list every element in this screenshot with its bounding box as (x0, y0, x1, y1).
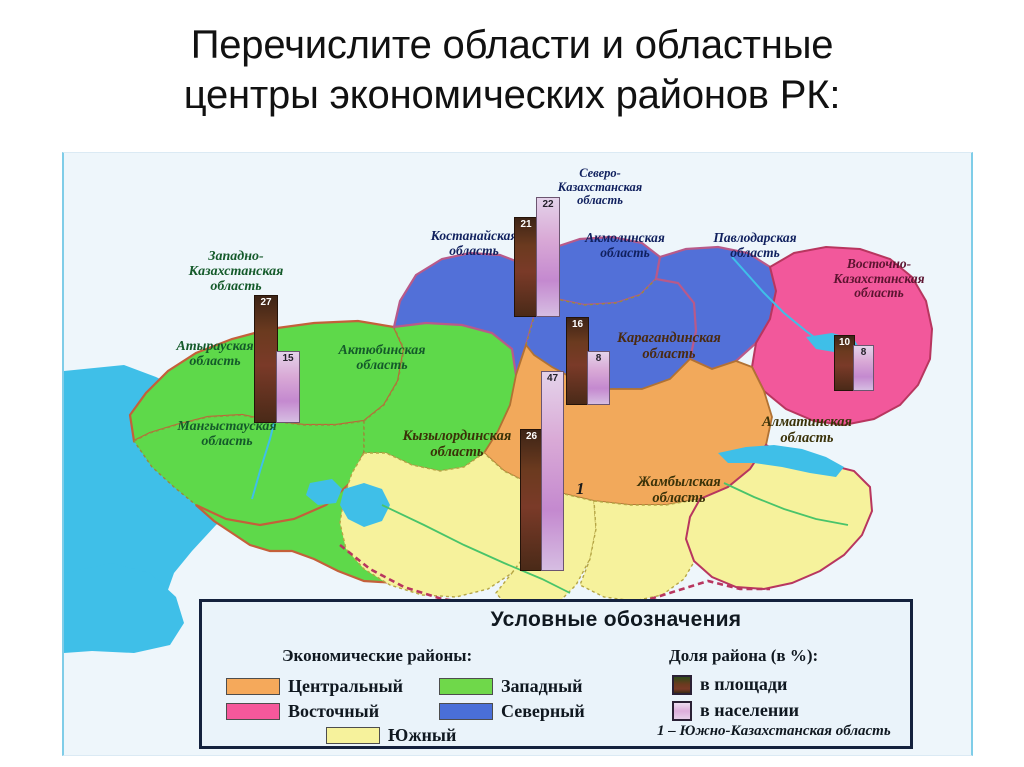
page-title-line-1: Перечислите области и областные (0, 20, 1024, 70)
legend-subtitle-share: Доля района (в %): (669, 646, 818, 666)
bar-pair-yuzhny: 26 47 (520, 371, 564, 571)
bar-population-value-vostochny: 8 (854, 347, 873, 358)
swatch-zapadny (439, 678, 493, 695)
legend-label-yuzhny: Южный (388, 725, 456, 746)
map-marker-1: 1 (576, 479, 585, 499)
legend-label-share-area: в площади (700, 674, 787, 695)
bar-population-vostochny: 8 (853, 345, 874, 391)
bar-population-value-severny: 22 (537, 199, 559, 210)
bar-area-severny: 21 (514, 217, 538, 317)
bar-population-value-yuzhny: 47 (542, 373, 563, 384)
bar-population-zapadny: 15 (276, 351, 300, 423)
swatch-yuzhny (326, 727, 380, 744)
bar-area-value-zapadny: 27 (255, 297, 277, 308)
bar-area-value-vostochny: 10 (835, 337, 854, 348)
swatch-vostochny (226, 703, 280, 720)
legend-label-vostochny: Восточный (288, 701, 379, 722)
swatch-centralny (226, 678, 280, 695)
map-container: особенности хозяйства региона требует из… (62, 152, 973, 756)
bar-population-value-zapadny: 15 (277, 353, 299, 364)
bar-area-yuzhny: 26 (520, 429, 543, 571)
bar-population-severny: 22 (536, 197, 560, 317)
bar-population-value-centralny: 8 (588, 353, 609, 364)
bar-population-yuzhny: 47 (541, 371, 564, 571)
map-legend: Условные обозначения Экономические район… (199, 599, 913, 749)
legend-item-yuzhny: Южный (326, 725, 456, 746)
legend-title: Условные обозначения (202, 608, 910, 632)
page-title-line-2: центры экономических районов РК: (0, 70, 1024, 120)
legend-item-zapadny: Западный (439, 676, 583, 697)
bar-area-value-centralny: 16 (567, 319, 588, 330)
swatch-area (672, 675, 692, 695)
bar-area-value-severny: 21 (515, 219, 537, 230)
legend-label-zapadny: Западный (501, 676, 583, 697)
bar-area-centralny: 16 (566, 317, 589, 405)
bar-area-value-yuzhny: 26 (521, 431, 542, 442)
legend-item-share-area: в площади (672, 674, 787, 695)
bar-pair-centralny: 16 8 (566, 317, 610, 405)
bar-population-centralny: 8 (587, 351, 610, 405)
legend-item-vostochny: Восточный (226, 701, 379, 722)
legend-label-severny: Северный (501, 701, 585, 722)
legend-item-severny: Северный (439, 701, 585, 722)
legend-label-centralny: Центральный (288, 676, 403, 697)
legend-label-share-population: в населении (700, 700, 799, 721)
legend-subtitle-economic-zones: Экономические районы: (282, 646, 472, 666)
legend-footnote: 1 – Южно-Казахстанская область (657, 723, 891, 740)
legend-item-share-population: в населении (672, 700, 799, 721)
bar-area-vostochny: 10 (834, 335, 855, 391)
legend-item-centralny: Центральный (226, 676, 403, 697)
bar-pair-zapadny: 27 15 (254, 295, 300, 423)
bar-area-zapadny: 27 (254, 295, 278, 423)
page-title: Перечислите области и областные центры э… (0, 20, 1024, 120)
bar-pair-vostochny: 10 8 (834, 335, 874, 391)
swatch-population (672, 701, 692, 721)
swatch-severny (439, 703, 493, 720)
bar-pair-severny: 21 22 (514, 197, 560, 317)
